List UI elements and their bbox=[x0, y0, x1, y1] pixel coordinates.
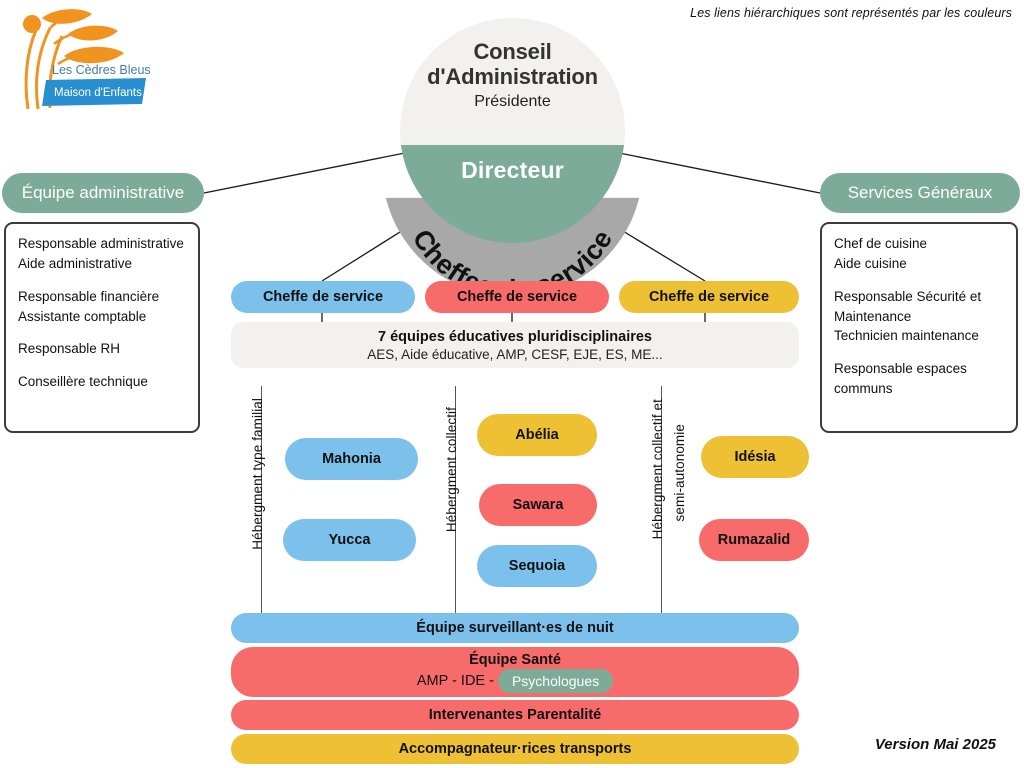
bar-accompagnateurs-transports[interactable]: Accompagnateur·rices transports bbox=[231, 734, 799, 764]
house-abelia[interactable]: Abélia bbox=[477, 414, 597, 456]
spacer bbox=[18, 274, 186, 287]
bar-equipe-surveillants-nuit[interactable]: Équipe surveillant·es de nuit bbox=[231, 613, 799, 643]
list-item: Responsable financière bbox=[18, 287, 186, 307]
equipe-administrative-header[interactable]: Équipe administrative bbox=[2, 173, 204, 213]
column-1-label: Hébergment type familial bbox=[250, 398, 265, 550]
column-3-label-line2: semi-autonomie bbox=[672, 424, 687, 521]
house-idesia[interactable]: Idésia bbox=[701, 436, 809, 478]
equipes-educatives-title: 7 équipes éducatives pluridisciplinaires bbox=[378, 329, 652, 345]
bar-sublabel-row: AMP - IDE - Psychologues bbox=[417, 669, 613, 693]
equipes-educatives-box: 7 équipes éducatives pluridisciplinaires… bbox=[231, 322, 799, 368]
psychologues-badge[interactable]: Psychologues bbox=[498, 669, 613, 693]
bar-intervenantes-parentalite[interactable]: Intervenantes Parentalité bbox=[231, 700, 799, 730]
list-item: Responsable espaces communs bbox=[834, 359, 1004, 399]
equipe-administrative-box: Responsable administrative Aide administ… bbox=[4, 222, 200, 433]
spacer bbox=[18, 359, 186, 372]
list-item: Aide cuisine bbox=[834, 254, 1004, 274]
org-chart-canvas: Les Cèdres Bleus Maison d'Enfants Les li… bbox=[0, 0, 1024, 768]
organization-logo: Les Cèdres Bleus Maison d'Enfants bbox=[6, 4, 156, 114]
cheffes-arc-text: Cheffes de service bbox=[382, 36, 643, 297]
spacer bbox=[18, 326, 186, 339]
list-item: Responsable administrative bbox=[18, 234, 186, 254]
bar-label: Équipe surveillant·es de nuit bbox=[416, 620, 613, 636]
logo-subtitle-text: Maison d'Enfants bbox=[54, 87, 142, 99]
legend-note: Les liens hiérarchiques sont représentés… bbox=[690, 6, 1012, 20]
list-item: Responsable Sécurité et Maintenance bbox=[834, 287, 1004, 327]
logo-name-text: Les Cèdres Bleus bbox=[52, 63, 151, 77]
services-generaux-box: Chef de cuisine Aide cuisine Responsable… bbox=[820, 222, 1018, 433]
column-2-label: Hébergment collectif bbox=[444, 407, 459, 532]
spacer bbox=[834, 346, 1004, 359]
list-item: Chef de cuisine bbox=[834, 234, 1004, 254]
bar-label: Accompagnateur·rices transports bbox=[399, 741, 632, 757]
cheffe-de-service-1[interactable]: Cheffe de service bbox=[231, 281, 415, 313]
governance-core: Conseil d'Administration Présidente Dire… bbox=[400, 18, 625, 243]
bar-sublabel: AMP - IDE - bbox=[417, 673, 494, 689]
cheffe-de-service-3[interactable]: Cheffe de service bbox=[619, 281, 799, 313]
services-generaux-header[interactable]: Services Généraux bbox=[820, 173, 1020, 213]
list-item: Responsable RH bbox=[18, 339, 186, 359]
cheffe-de-service-2[interactable]: Cheffe de service bbox=[425, 281, 609, 313]
version-label: Version Mai 2025 bbox=[875, 736, 996, 753]
list-item: Conseillère technique bbox=[18, 372, 186, 392]
bar-label: Équipe Santé bbox=[469, 652, 561, 668]
list-item: Technicien maintenance bbox=[834, 326, 1004, 346]
house-sawara[interactable]: Sawara bbox=[479, 484, 597, 526]
house-sequoia[interactable]: Sequoia bbox=[477, 545, 597, 587]
bar-label: Intervenantes Parentalité bbox=[429, 707, 601, 723]
bar-equipe-sante[interactable]: Équipe Santé AMP - IDE - Psychologues bbox=[231, 647, 799, 697]
spacer bbox=[834, 274, 1004, 287]
house-yucca[interactable]: Yucca bbox=[283, 519, 416, 561]
house-rumazalid[interactable]: Rumazalid bbox=[699, 519, 809, 561]
house-mahonia[interactable]: Mahonia bbox=[285, 438, 418, 480]
list-item: Assistante comptable bbox=[18, 307, 186, 327]
list-item: Aide administrative bbox=[18, 254, 186, 274]
equipes-educatives-subtitle: AES, Aide éducative, AMP, CESF, EJE, ES,… bbox=[367, 347, 662, 362]
column-3-label: Hébergment collectif et bbox=[650, 399, 665, 539]
